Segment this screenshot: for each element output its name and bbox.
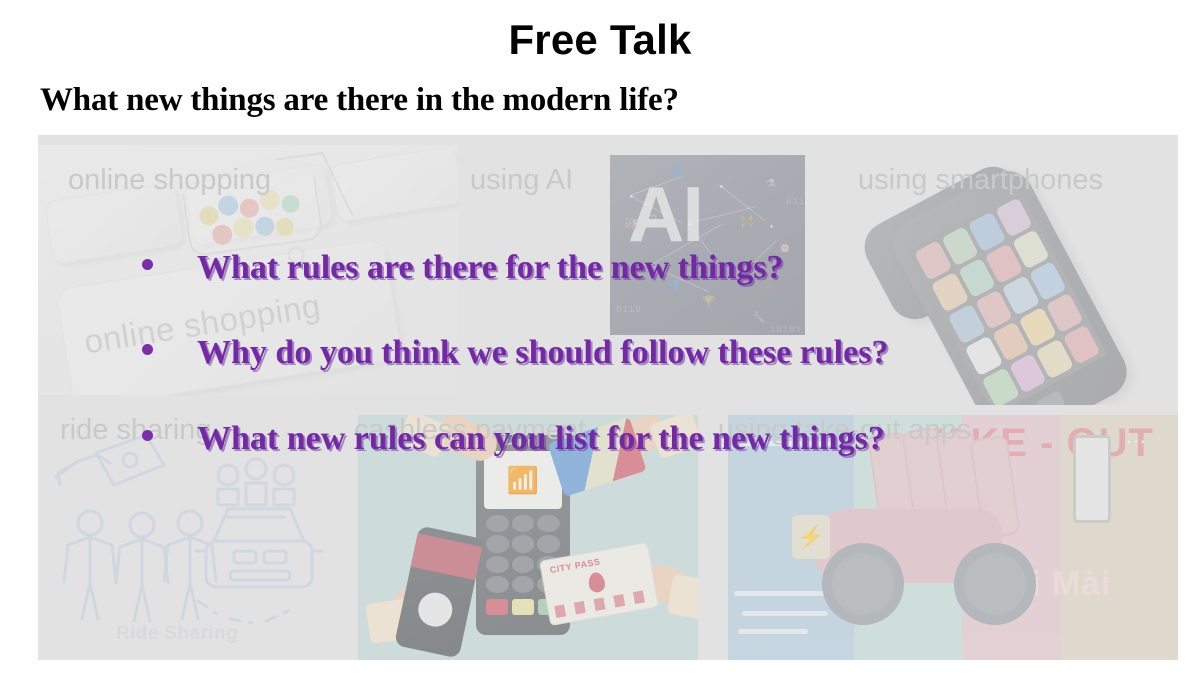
nfc-icon: 📶 bbox=[484, 451, 562, 509]
content-panel: online shopping AI bbox=[38, 135, 1178, 660]
binary-digits: 0110 bbox=[616, 305, 642, 315]
image-using-ai: AI 👤 🏭 ⏻ 👥 🏆 🚧 🔧 ⚗ ⏰ 0110 10101 0110 bbox=[610, 155, 805, 335]
page-subtitle: What new things are there in the modern … bbox=[40, 78, 679, 122]
caption-using-takeout-apps: using take-out apps bbox=[718, 413, 971, 447]
caption-ride-sharing: ride sharing bbox=[60, 413, 212, 447]
ellipsis-dots: ⋯ bbox=[1126, 429, 1149, 454]
clock-icon: ⏰ bbox=[778, 241, 792, 254]
ride-sharing-caption: Ride Sharing bbox=[116, 623, 238, 645]
caption-using-ai: using AI bbox=[470, 163, 573, 197]
caption-cashless-payment: cashless payment bbox=[354, 413, 586, 447]
caption-online-shopping: online shopping bbox=[68, 163, 271, 197]
image-takeout-delivery: TAKE - OUT Wài Mài ⚡ ⋯ bbox=[728, 415, 1178, 660]
group-icon: 👥 bbox=[666, 277, 680, 290]
lab-icon: ⚗ bbox=[766, 177, 776, 190]
smartphone-front bbox=[884, 162, 1136, 405]
trophy-icon: 🏆 bbox=[702, 295, 716, 308]
phone-frame bbox=[1073, 435, 1111, 523]
power-icon: ⏻ bbox=[648, 213, 657, 226]
binary-digits: 10101 bbox=[770, 325, 802, 335]
sleeve bbox=[667, 574, 698, 620]
binary-digits: 0110 bbox=[786, 197, 805, 207]
location-pin-icon bbox=[587, 571, 606, 593]
image-cashless-payment: 📶 bbox=[358, 415, 698, 660]
tools-icon: 🔧 bbox=[752, 311, 766, 324]
smartphone-screen bbox=[907, 191, 1107, 405]
crane-icon: 🚧 bbox=[740, 215, 754, 228]
factory-icon: 🏭 bbox=[624, 217, 638, 230]
sleeve bbox=[649, 415, 698, 459]
delivery-scooter: ⚡ bbox=[778, 425, 1068, 625]
person-icon: 👤 bbox=[670, 163, 684, 176]
home-button bbox=[1035, 390, 1065, 405]
mobile-phone bbox=[394, 525, 484, 658]
battery-icon: ⚡ bbox=[792, 515, 830, 559]
caption-using-smartphones: using smartphones bbox=[858, 163, 1103, 197]
page-title: Free Talk bbox=[0, 14, 1200, 66]
